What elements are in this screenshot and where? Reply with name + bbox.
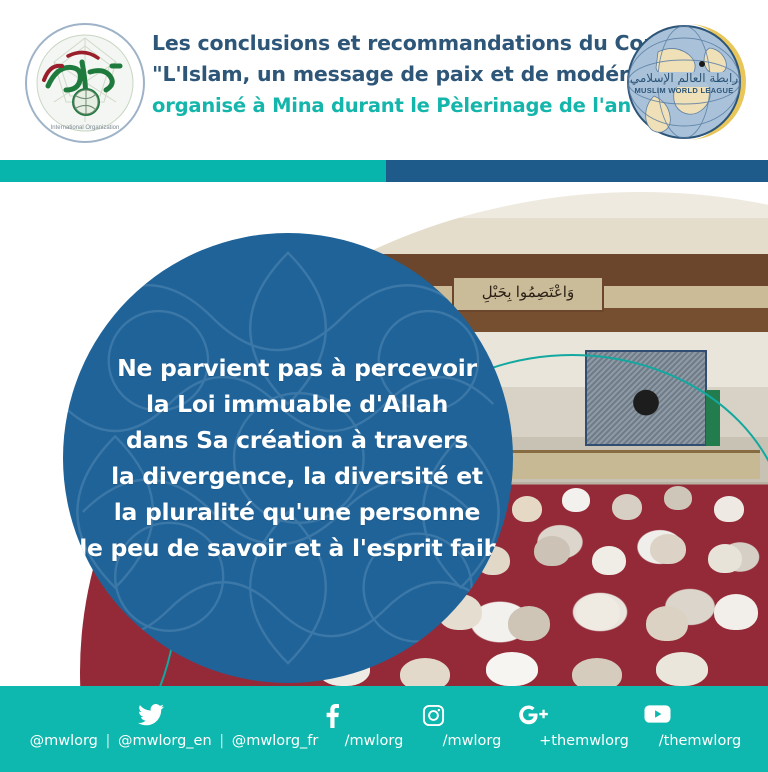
facebook-handle: /mwlorg bbox=[345, 733, 404, 749]
youtube-handle: /themwlorg bbox=[659, 733, 741, 749]
twitter-separator-1: | bbox=[103, 733, 114, 749]
head-table bbox=[470, 450, 760, 479]
social-twitter[interactable]: @mwlorg | @mwlorg_en | @mwlorg_fr bbox=[18, 704, 330, 750]
quote-line-2: la Loi immuable d'Allah bbox=[71, 386, 514, 422]
iofms-ring-text: International Organization bbox=[51, 125, 120, 131]
mwl-logo: رابطة العالم الإسلامي MUSLIM WORLD LEAGU… bbox=[624, 18, 752, 146]
header: International Organization Les conclusio… bbox=[0, 0, 768, 158]
header-title-line-2: "L'Islam, un message de paix et de modér… bbox=[152, 59, 622, 90]
mwl-english-text: MUSLIM WORLD LEAGUE bbox=[634, 86, 733, 95]
instagram-handle: /mwlorg bbox=[443, 733, 502, 749]
social-facebook[interactable]: /mwlorg bbox=[326, 704, 422, 750]
youtube-icon bbox=[644, 704, 756, 730]
googleplus-handle: +themwlorg bbox=[539, 733, 629, 749]
saudi-arabia-flag-icon bbox=[706, 390, 720, 446]
accent-bar-teal bbox=[0, 160, 386, 182]
social-links-row: @mwlorg | @mwlorg_en | @mwlorg_fr /mwlor… bbox=[0, 686, 768, 772]
twitter-handle-1: @mwlorg bbox=[30, 733, 98, 749]
quote-line-1: Ne parvient pas à percevoir bbox=[71, 350, 514, 386]
twitter-handles: @mwlorg | @mwlorg_en | @mwlorg_fr bbox=[30, 733, 319, 749]
google-plus-icon bbox=[518, 704, 650, 730]
poster-root: International Organization Les conclusio… bbox=[0, 0, 768, 772]
header-title-line-3: organisé à Mina durant le Pèlerinage de … bbox=[152, 90, 622, 121]
social-instagram[interactable]: /mwlorg bbox=[422, 704, 522, 750]
header-title-block: Les conclusions et recommandations du Co… bbox=[152, 28, 622, 121]
twitter-icon bbox=[138, 704, 164, 730]
twitter-handle-3: @mwlorg_fr bbox=[232, 733, 319, 749]
header-title-line-1: Les conclusions et recommandations du Co… bbox=[152, 28, 622, 59]
social-youtube[interactable]: /themwlorg bbox=[644, 704, 756, 750]
quote-line-5: la pluralité qu'une personne bbox=[71, 494, 514, 530]
twitter-separator-2: | bbox=[216, 733, 227, 749]
iofms-logo: International Organization bbox=[24, 22, 146, 144]
mwl-arabic-text: رابطة العالم الإسلامي bbox=[630, 71, 738, 86]
quote-line-6: de peu de savoir et à l'esprit faible bbox=[71, 530, 514, 566]
quote-text: Ne parvient pas à percevoir la Loi immua… bbox=[71, 350, 514, 566]
accent-bar-blue bbox=[386, 160, 768, 182]
quote-line-4: la divergence, la diversité et bbox=[71, 458, 514, 494]
footer: @mwlorg | @mwlorg_en | @mwlorg_fr /mwlor… bbox=[0, 686, 768, 772]
kaaba-backdrop bbox=[585, 350, 707, 446]
facebook-icon bbox=[326, 704, 422, 730]
social-googleplus[interactable]: +themwlorg bbox=[518, 704, 650, 750]
quote-circle: Ne parvient pas à percevoir la Loi immua… bbox=[63, 233, 513, 683]
instagram-icon bbox=[422, 704, 522, 730]
twitter-handle-2: @mwlorg_en bbox=[118, 733, 212, 749]
quote-line-3: dans Sa création à travers bbox=[71, 422, 514, 458]
